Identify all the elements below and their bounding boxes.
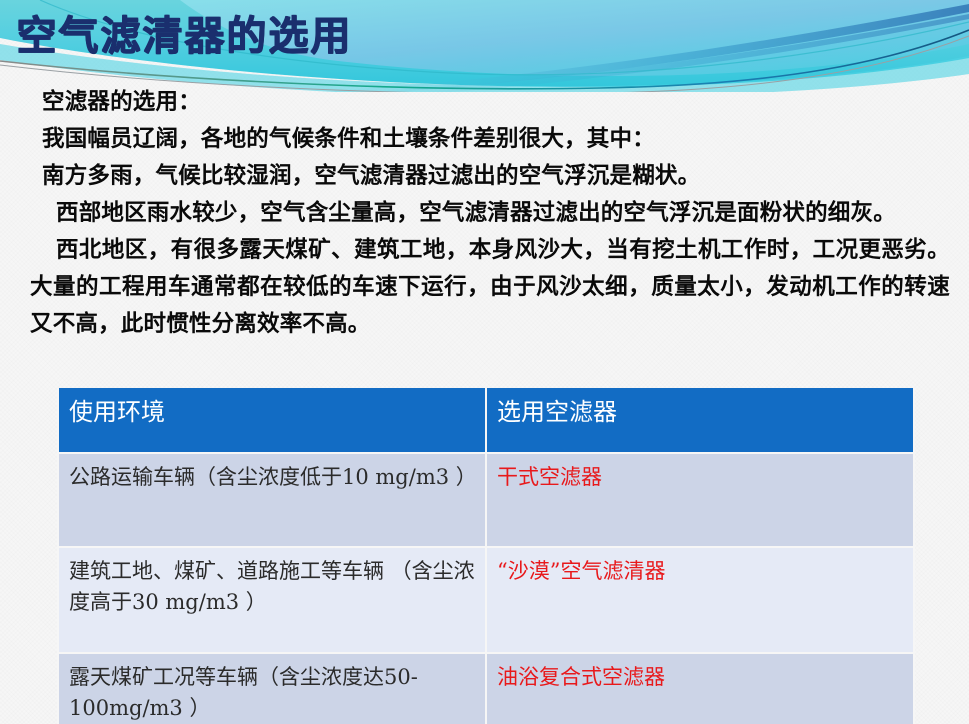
table-row: 露天煤矿工况等车辆（含尘浓度达50-100mg/m3 ） 油浴复合式空滤器	[58, 653, 914, 724]
body-line-3: 南方多雨，气候比较湿润，空气滤清器过滤出的空气浮沉是糊状。	[30, 158, 950, 195]
body-line-5: 西北地区，有很多露天煤矿、建筑工地，本身风沙大，当有挖土机工作时，工况更恶劣。大…	[30, 232, 950, 343]
cell-environment-1: 公路运输车辆（含尘浓度低于10 mg/m3 ）	[58, 453, 486, 547]
body-line-2: 我国幅员辽阔，各地的气候条件和土壤条件差别很大，其中：	[30, 121, 950, 158]
cell-filter-2: “沙漠”空气滤清器	[486, 547, 914, 653]
body-line-4: 西部地区雨水较少，空气含尘量高，空气滤清器过滤出的空气浮沉是面粉状的细灰。	[30, 195, 950, 232]
body-line-1: 空滤器的选用：	[30, 84, 950, 121]
column-header-filter: 选用空滤器	[486, 388, 914, 453]
table-row: 建筑工地、煤矿、道路施工等车辆 （含尘浓度高于30 mg/m3 ） “沙漠”空气…	[58, 547, 914, 653]
cell-filter-3: 油浴复合式空滤器	[486, 653, 914, 724]
body-text-block: 空滤器的选用： 我国幅员辽阔，各地的气候条件和土壤条件差别很大，其中： 南方多雨…	[30, 84, 950, 343]
slide-canvas: 空气滤清器的选用 空滤器的选用： 我国幅员辽阔，各地的气候条件和土壤条件差别很大…	[0, 0, 969, 724]
page-title: 空气滤清器的选用	[16, 12, 352, 60]
cell-environment-2: 建筑工地、煤矿、道路施工等车辆 （含尘浓度高于30 mg/m3 ）	[58, 547, 486, 653]
table-header-row: 使用环境 选用空滤器	[58, 388, 914, 453]
cell-filter-1: 干式空滤器	[486, 453, 914, 547]
filter-selection-table: 使用环境 选用空滤器 公路运输车辆（含尘浓度低于10 mg/m3 ） 干式空滤器…	[57, 388, 915, 724]
column-header-environment: 使用环境	[58, 388, 486, 453]
table-row: 公路运输车辆（含尘浓度低于10 mg/m3 ） 干式空滤器	[58, 453, 914, 547]
cell-environment-3: 露天煤矿工况等车辆（含尘浓度达50-100mg/m3 ）	[58, 653, 486, 724]
